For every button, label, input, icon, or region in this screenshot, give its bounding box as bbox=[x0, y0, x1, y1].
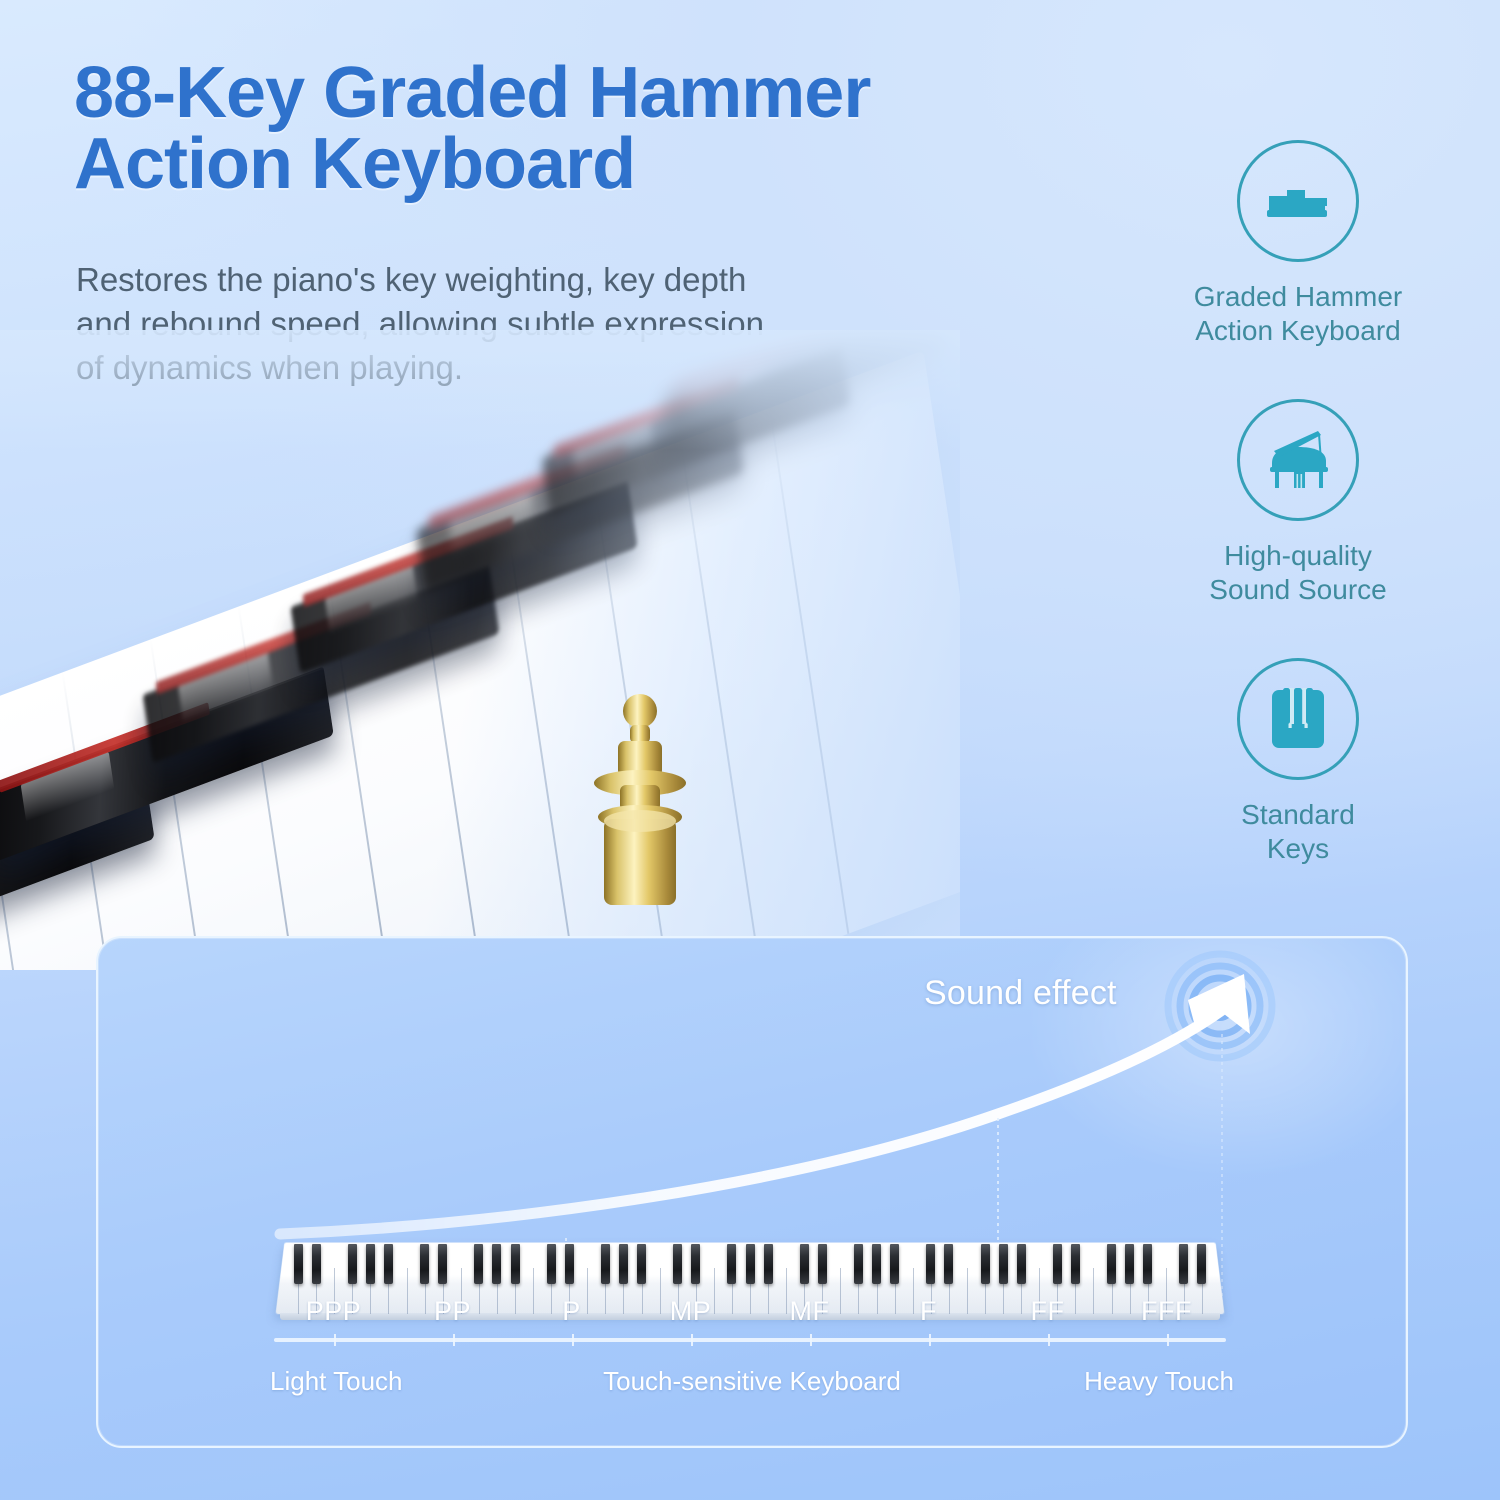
feature-item-sound-source[interactable]: High-quality Sound Source bbox=[1148, 399, 1448, 606]
feature-label: High-quality Sound Source bbox=[1209, 539, 1386, 606]
feature-icon-circle bbox=[1237, 399, 1359, 521]
keyboard-black-key bbox=[438, 1244, 447, 1284]
feature-item-graded-hammer[interactable]: Graded Hammer Action Keyboard bbox=[1148, 140, 1448, 347]
feature-label-line1: High-quality bbox=[1209, 539, 1386, 573]
keyboard-black-key bbox=[1107, 1244, 1116, 1284]
keyboard-black-key bbox=[384, 1244, 393, 1284]
caption-touch-sensitive: Touch-sensitive Keyboard bbox=[603, 1366, 901, 1397]
feature-label-line2: Keys bbox=[1241, 832, 1355, 866]
keyboard-black-key bbox=[727, 1244, 736, 1284]
keyboard-black-key bbox=[999, 1244, 1008, 1284]
dynamic-label-ppp: PPP bbox=[306, 1296, 362, 1327]
caption-heavy-touch: Heavy Touch bbox=[1084, 1366, 1234, 1397]
gold-finial-icon bbox=[580, 685, 700, 925]
piano-keys-photo bbox=[0, 330, 960, 970]
keyboard-black-key bbox=[926, 1244, 935, 1284]
feature-label-line1: Standard bbox=[1241, 798, 1355, 832]
piano-keys-icon bbox=[1270, 688, 1326, 750]
feature-list: Graded Hammer Action Keyboard bbox=[1148, 140, 1448, 866]
feature-label-line1: Graded Hammer bbox=[1194, 280, 1403, 314]
keyboard-black-key bbox=[1143, 1244, 1152, 1284]
keyboard-black-key bbox=[547, 1244, 556, 1284]
keyboard-black-key bbox=[1017, 1244, 1026, 1284]
keyboard-black-key bbox=[565, 1244, 574, 1284]
dynamic-label-fff: FFF bbox=[1141, 1296, 1192, 1327]
keyboard-black-key bbox=[673, 1244, 682, 1284]
feature-label-line2: Sound Source bbox=[1209, 573, 1386, 607]
feature-label: Graded Hammer Action Keyboard bbox=[1194, 280, 1403, 347]
page-description-line1: Restores the piano's key weighting, key … bbox=[76, 258, 956, 302]
keyboard-black-key bbox=[294, 1244, 303, 1284]
keyboard-black-key bbox=[854, 1244, 863, 1284]
grand-piano-icon bbox=[1262, 429, 1334, 491]
keyboard-black-key bbox=[312, 1244, 321, 1284]
dynamic-label-mf: MF bbox=[790, 1296, 830, 1327]
feature-label-line2: Action Keyboard bbox=[1194, 314, 1403, 348]
page-title-line2: Action Keyboard bbox=[74, 129, 1194, 200]
keyboard-black-key bbox=[872, 1244, 881, 1284]
keyboard-black-key bbox=[1125, 1244, 1134, 1284]
dynamic-label-f: F bbox=[920, 1296, 937, 1327]
keyboard-black-key bbox=[1179, 1244, 1188, 1284]
dynamics-labels: PPPPPPMPMFFFFFFF bbox=[274, 1296, 1226, 1336]
dynamic-label-p: P bbox=[562, 1296, 581, 1327]
keyboard-black-key bbox=[601, 1244, 610, 1284]
keyboard-black-key bbox=[637, 1244, 646, 1284]
keyboard-black-key bbox=[420, 1244, 429, 1284]
keyboard-black-key bbox=[764, 1244, 773, 1284]
keyboard-black-key bbox=[818, 1244, 827, 1284]
keyboard-black-key bbox=[492, 1244, 501, 1284]
arrow-head-icon bbox=[1188, 974, 1250, 1034]
keyboard-side-icon bbox=[1265, 180, 1331, 222]
keyboard-black-key bbox=[348, 1244, 357, 1284]
keyboard-black-key bbox=[746, 1244, 755, 1284]
feature-icon-circle bbox=[1237, 658, 1359, 780]
touch-sensitivity-panel: Sound effect bbox=[96, 936, 1408, 1448]
page-title: 88-Key Graded Hammer Action Keyboard bbox=[74, 58, 1194, 199]
dynamic-label-mp: MP bbox=[670, 1296, 712, 1327]
chart-axis-line bbox=[274, 1338, 1226, 1342]
keyboard-black-key bbox=[1053, 1244, 1062, 1284]
feature-label: Standard Keys bbox=[1241, 798, 1355, 865]
page-title-line1: 88-Key Graded Hammer bbox=[74, 53, 870, 133]
keyboard-black-key bbox=[366, 1244, 375, 1284]
dynamic-label-ff: FF bbox=[1031, 1296, 1065, 1327]
caption-light-touch: Light Touch bbox=[270, 1366, 403, 1397]
keyboard-black-key bbox=[944, 1244, 953, 1284]
feature-icon-circle bbox=[1237, 140, 1359, 262]
keyboard-black-key bbox=[890, 1244, 899, 1284]
keyboard-black-key bbox=[1197, 1244, 1206, 1284]
feature-item-standard-keys[interactable]: Standard Keys bbox=[1148, 658, 1448, 865]
keyboard-black-key bbox=[691, 1244, 700, 1284]
keyboard-black-key bbox=[474, 1244, 483, 1284]
dynamic-label-pp: PP bbox=[434, 1296, 471, 1327]
keyboard-black-key bbox=[800, 1244, 809, 1284]
sound-effect-curve bbox=[280, 1010, 1222, 1234]
infographic-root: 88-Key Graded Hammer Action Keyboard Res… bbox=[0, 0, 1500, 1500]
white-keys-bed bbox=[0, 350, 960, 970]
keyboard-black-key bbox=[1071, 1244, 1080, 1284]
keyboard-black-key bbox=[511, 1244, 520, 1284]
keyboard-black-key bbox=[981, 1244, 990, 1284]
keyboard-black-key bbox=[619, 1244, 628, 1284]
piano-keys-artwork bbox=[0, 330, 960, 970]
